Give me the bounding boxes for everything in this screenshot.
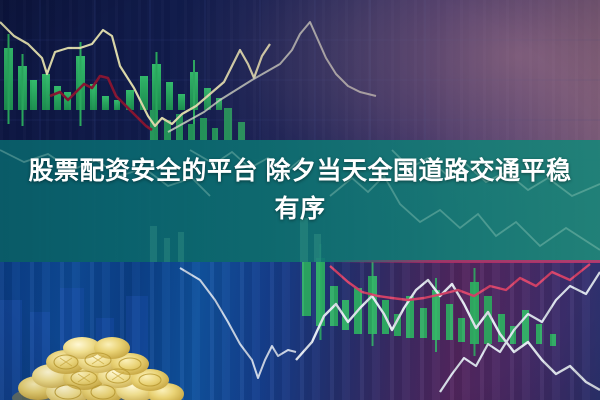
banner-image: 股票配资安全的平台 除夕当天全国道路交通平稳 有序 bbox=[0, 0, 600, 400]
vignette-overlay bbox=[0, 0, 600, 400]
